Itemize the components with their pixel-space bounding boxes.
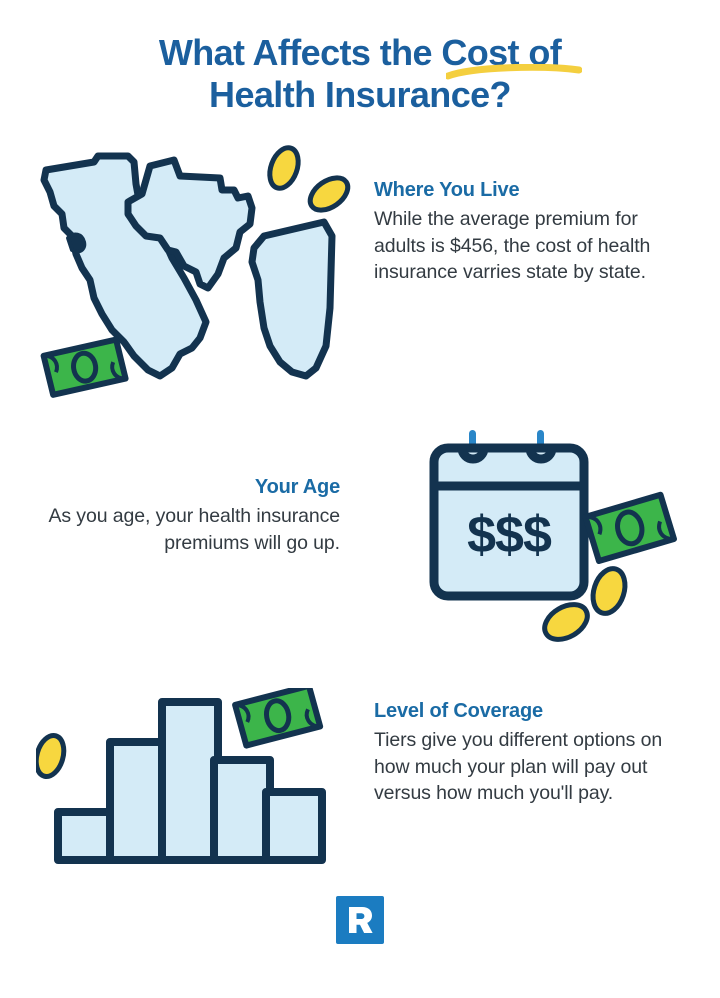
- dollar-bill-icon: [234, 688, 321, 746]
- section-body-text: While the average premium for adults is …: [374, 206, 692, 286]
- page-title-line-2: Health Insurance?: [0, 74, 720, 116]
- dollar-bill-icon: [584, 494, 675, 562]
- coin-icon: [36, 732, 68, 780]
- state-shape-mississippi: [252, 222, 332, 376]
- section-level-of-coverage: Level of Coverage Tiers give you differe…: [374, 698, 694, 807]
- section-heading: Your Age: [34, 474, 340, 500]
- ramsey-solutions-logo[interactable]: [336, 896, 384, 944]
- infographic-canvas: What Affects the Cost of Health Insuranc…: [0, 0, 720, 998]
- section-body-text: Tiers give you different options on how …: [374, 727, 694, 807]
- illustration-bar-chart-tiers: [36, 688, 336, 868]
- illustration-us-states-map: [24, 132, 364, 412]
- page-title: What Affects the Cost of Health Insuranc…: [0, 32, 720, 116]
- section-heading: Level of Coverage: [374, 698, 694, 724]
- section-your-age: Your Age As you age, your health insuran…: [34, 474, 340, 556]
- coin-icon: [588, 564, 631, 617]
- coin-icon: [304, 171, 353, 216]
- logo-letter-r-icon: [336, 896, 384, 944]
- calendar-dollar-label: $$$: [467, 506, 552, 564]
- bar: [110, 742, 166, 860]
- section-body-text: As you age, your health insurance premiu…: [34, 503, 340, 556]
- coin-icon: [539, 598, 594, 647]
- section-where-you-live: Where You Live While the average premium…: [374, 177, 692, 286]
- state-detail-california-bay: [68, 235, 84, 252]
- illustration-calendar-dollars: $$$: [418, 424, 688, 654]
- bar: [58, 812, 114, 860]
- bar: [162, 702, 218, 860]
- dollar-bill-icon: [43, 339, 127, 395]
- bar: [214, 760, 270, 860]
- bar: [266, 792, 322, 860]
- section-heading: Where You Live: [374, 177, 692, 203]
- page-title-line-1: What Affects the Cost of: [0, 32, 720, 74]
- coin-icon: [265, 144, 304, 192]
